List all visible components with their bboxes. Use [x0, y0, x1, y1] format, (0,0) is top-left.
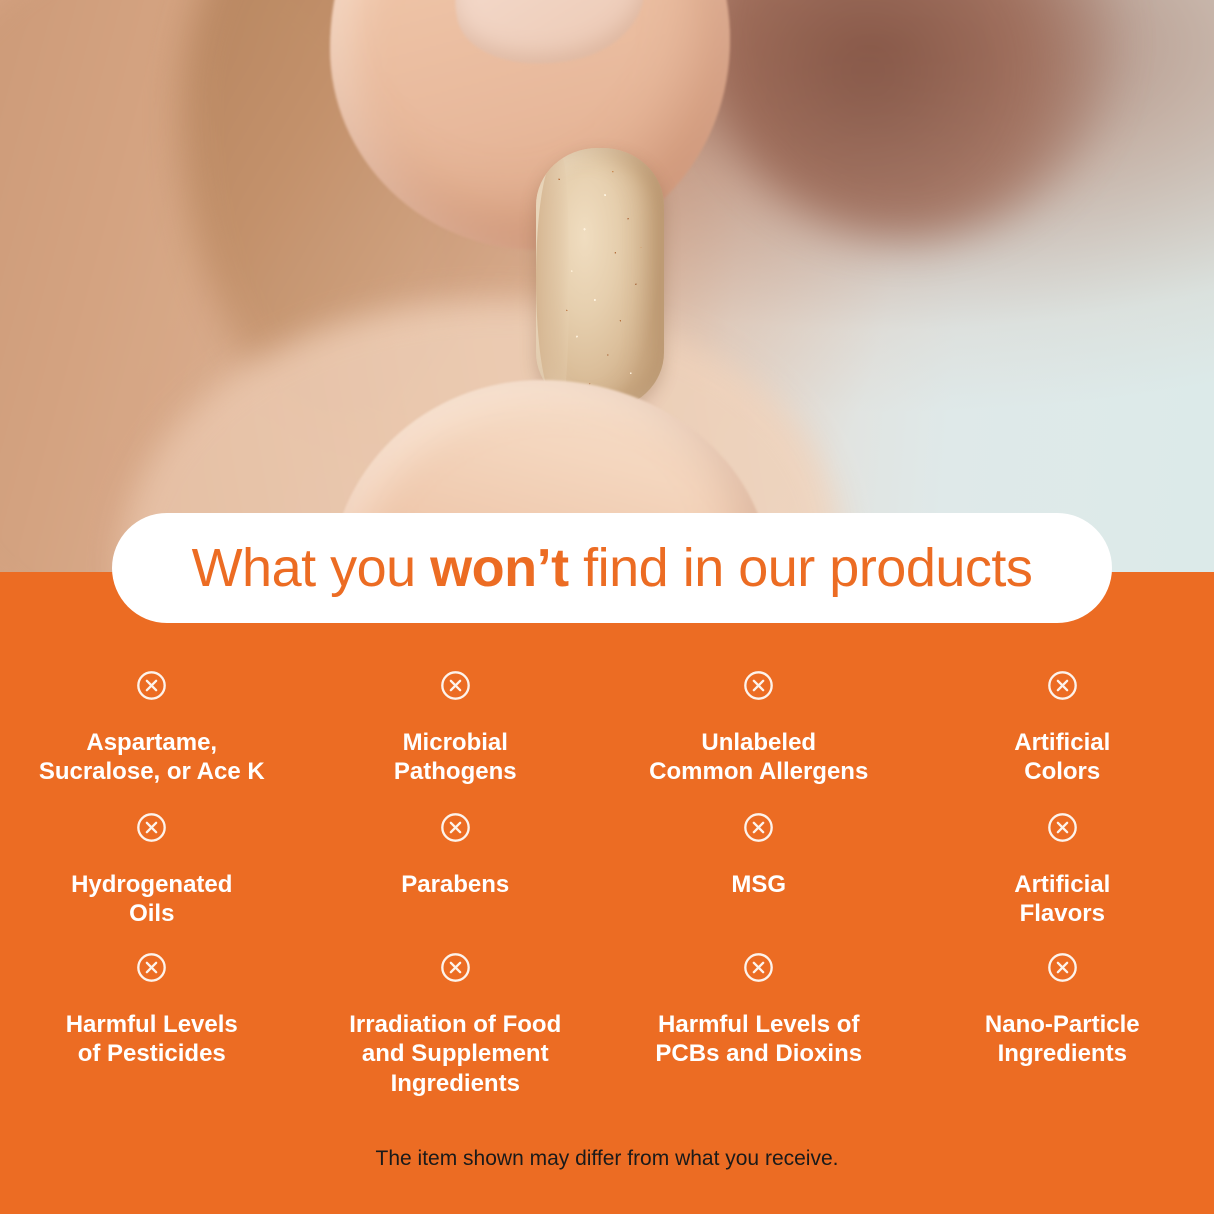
circle-x-icon [136, 670, 167, 701]
exclusion-item: Nano-Particle Ingredients [911, 952, 1214, 1102]
circle-x-icon [440, 670, 471, 701]
exclusion-item-label: Hydrogenated Oils [71, 870, 232, 929]
circle-x-icon [743, 952, 774, 983]
circle-x-icon [440, 812, 471, 843]
exclusion-row-1: Aspartame, Sucralose, or Ace K Microbial… [0, 670, 1214, 812]
exclusion-item-label: Irradiation of Food and Supplement Ingre… [349, 1010, 561, 1098]
benefits-panel: Aspartame, Sucralose, or Ace K Microbial… [0, 572, 1214, 1214]
exclusion-item-label: MSG [731, 870, 786, 899]
exclusion-item: Unlabeled Common Allergens [607, 670, 911, 812]
exclusion-item-label: Parabens [401, 870, 509, 899]
circle-x-icon [1047, 812, 1078, 843]
title-part-1: What you [192, 538, 431, 598]
exclusion-item: Harmful Levels of Pesticides [0, 952, 304, 1102]
exclusion-grid: Aspartame, Sucralose, or Ace K Microbial… [0, 670, 1214, 1102]
circle-x-icon [743, 670, 774, 701]
exclusion-item-label: Unlabeled Common Allergens [649, 728, 868, 787]
circle-x-icon [440, 952, 471, 983]
circle-x-icon [1047, 670, 1078, 701]
exclusion-item-label: Harmful Levels of Pesticides [66, 1010, 238, 1069]
exclusion-item: Aspartame, Sucralose, or Ace K [0, 670, 304, 812]
title-part-2: find in our products [569, 538, 1033, 598]
exclusion-item-label: Aspartame, Sucralose, or Ace K [39, 728, 265, 787]
exclusion-item-label: Artificial Flavors [1014, 870, 1110, 929]
exclusion-row-3: Harmful Levels of Pesticides Irradiation… [0, 952, 1214, 1102]
circle-x-icon [136, 812, 167, 843]
circle-x-icon [1047, 952, 1078, 983]
exclusion-item: Artificial Colors [911, 670, 1214, 812]
exclusion-item: Hydrogenated Oils [0, 812, 304, 952]
exclusion-item: Parabens [304, 812, 608, 952]
exclusion-item-label: Artificial Colors [1014, 728, 1110, 787]
circle-x-icon [743, 812, 774, 843]
page-title: What you won’t find in our products [192, 537, 1033, 599]
exclusion-row-2: Hydrogenated Oils Parabens [0, 812, 1214, 952]
exclusion-item: Harmful Levels of PCBs and Dioxins [607, 952, 911, 1102]
disclaimer-text: The item shown may differ from what you … [0, 1147, 1214, 1171]
exclusion-item: Irradiation of Food and Supplement Ingre… [304, 952, 608, 1102]
title-emphasis: won’t [430, 538, 568, 598]
exclusion-item-label: Harmful Levels of PCBs and Dioxins [655, 1010, 862, 1069]
exclusion-item: Artificial Flavors [911, 812, 1214, 952]
title-banner: What you won’t find in our products [112, 513, 1112, 623]
product-photo [0, 0, 1214, 576]
tablet-speckles [536, 148, 664, 410]
exclusion-item: MSG [607, 812, 911, 952]
product-infographic: Aspartame, Sucralose, or Ace K Microbial… [0, 0, 1214, 1214]
tablet-shape [536, 148, 664, 410]
exclusion-item-label: Microbial Pathogens [394, 728, 517, 787]
exclusion-item: Microbial Pathogens [304, 670, 608, 812]
circle-x-icon [136, 952, 167, 983]
exclusion-item-label: Nano-Particle Ingredients [985, 1010, 1140, 1069]
